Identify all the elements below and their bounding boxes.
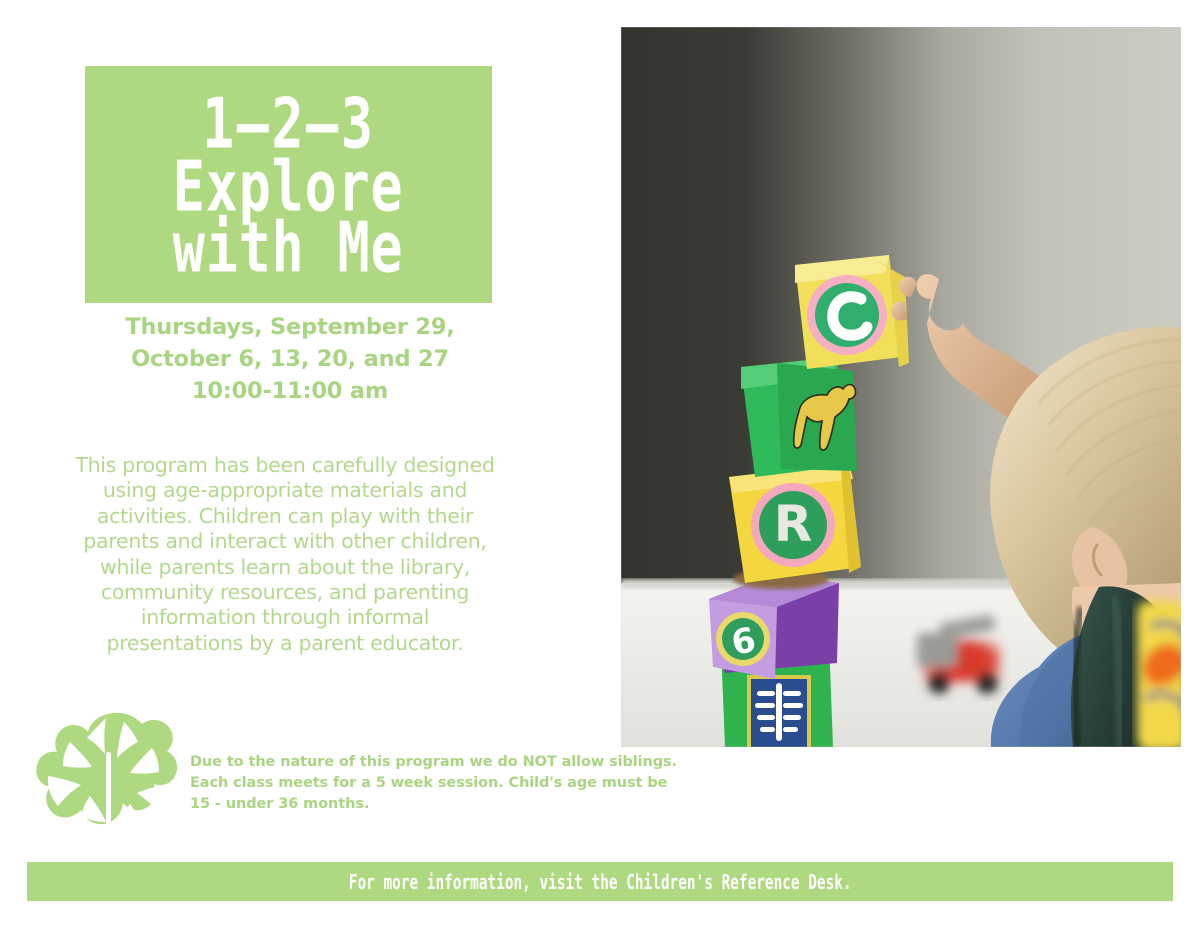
description-line-3: activities. Children can play with their bbox=[55, 504, 515, 529]
note-line-3: 15 - under 36 months. bbox=[190, 794, 670, 815]
monstera-leaf-icon bbox=[34, 712, 186, 852]
block-R: R bbox=[729, 463, 861, 583]
description-paragraph: This program has been carefully designed… bbox=[55, 453, 515, 656]
description-line-6: community resources, and parenting bbox=[55, 580, 515, 605]
title-line-3: with Me bbox=[173, 214, 404, 282]
svg-text:R: R bbox=[774, 495, 813, 553]
note-line-2: Each class meets for a 5 week session. C… bbox=[190, 773, 670, 794]
description-line-4: parents and interact with other children… bbox=[55, 529, 515, 554]
schedule-block: Thursdays, September 29, October 6, 13, … bbox=[60, 312, 520, 408]
program-note: Due to the nature of this program we do … bbox=[190, 752, 670, 815]
photo-toddler-with-blocks: 6 R bbox=[621, 27, 1181, 747]
toy-right-edge bbox=[1137, 601, 1181, 747]
block-camel bbox=[741, 357, 857, 477]
description-line-5: while parents learn about the library, bbox=[55, 555, 515, 580]
footer-text: For more information, visit the Children… bbox=[349, 870, 852, 894]
schedule-line-2: October 6, 13, 20, and 27 bbox=[60, 344, 520, 376]
description-line-1: This program has been carefully designed bbox=[55, 453, 515, 478]
description-line-8: presentations by a parent educator. bbox=[55, 631, 515, 656]
schedule-line-1: Thursdays, September 29, bbox=[60, 312, 520, 344]
schedule-line-3: 10:00-11:00 am bbox=[60, 376, 520, 408]
footer-banner: For more information, visit the Children… bbox=[27, 862, 1173, 901]
description-line-2: using age-appropriate materials and bbox=[55, 478, 515, 503]
description-line-7: information through informal bbox=[55, 605, 515, 630]
title-banner: 1–2–3 Explore with Me bbox=[85, 66, 492, 303]
note-line-1: Due to the nature of this program we do … bbox=[190, 752, 670, 773]
